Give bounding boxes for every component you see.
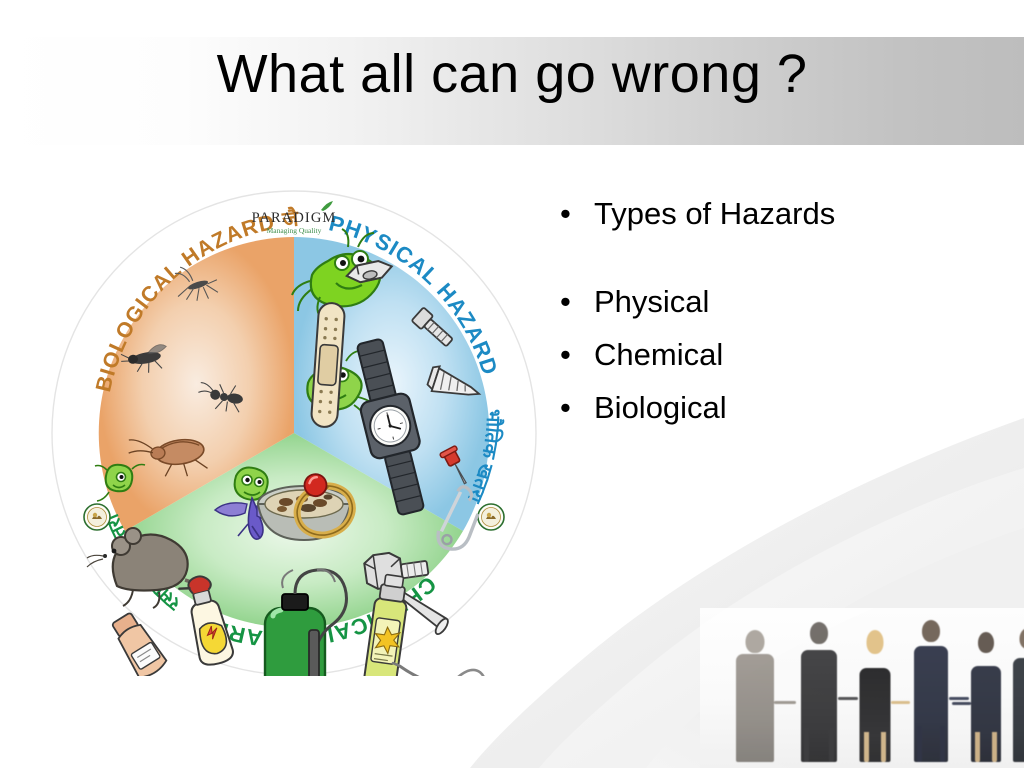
hazard-wheel-image: BIOLOGICAL HAZARD जैविक खतरा PHYSICAL HA… <box>50 190 538 676</box>
list-item: • Physical <box>560 284 990 320</box>
leg <box>829 728 834 762</box>
people-photo-decoration <box>700 608 1024 768</box>
list-item: • Types of Hazards <box>560 196 990 232</box>
bullet-marker: • <box>560 390 594 426</box>
oil-can-icon <box>393 648 493 676</box>
leg <box>940 726 945 762</box>
person-silhouette <box>964 632 1008 762</box>
head <box>1020 628 1024 649</box>
bullet-list: • Types of Hazards • Physical • Chemical… <box>560 196 990 443</box>
person-silhouette <box>906 620 956 762</box>
leg <box>975 732 980 762</box>
paradigm-tagline: Managing Quality <box>267 226 322 235</box>
arm <box>952 702 971 705</box>
list-item: • Biological <box>560 390 990 426</box>
bullet-marker: • <box>560 337 594 373</box>
head <box>978 632 994 653</box>
page-title: What all can go wrong ? <box>0 44 1024 104</box>
bullet-label: Physical <box>594 284 990 320</box>
leg <box>992 732 997 762</box>
list-item: • Chemical <box>560 337 990 373</box>
list-spacer <box>560 232 990 284</box>
leg <box>881 732 886 762</box>
head <box>810 622 828 644</box>
head <box>746 630 765 653</box>
slide: What all can go wrong ? <box>0 0 1024 768</box>
quality-seal-icon <box>84 504 110 530</box>
head <box>867 630 884 654</box>
bullet-label: Biological <box>594 390 990 426</box>
leg <box>864 732 869 762</box>
bullet-label: Types of Hazards <box>594 196 990 232</box>
bullet-marker: • <box>560 284 594 320</box>
bullet-label: Chemical <box>594 337 990 373</box>
body <box>1013 658 1024 762</box>
person-silhouette <box>852 630 898 762</box>
person-silhouette <box>1008 628 1024 762</box>
head <box>922 620 940 642</box>
bullet-marker: • <box>560 196 594 232</box>
person-silhouette <box>793 622 845 762</box>
body <box>736 654 774 762</box>
quality-seal-icon <box>478 504 504 530</box>
leg <box>804 728 809 762</box>
person-silhouette <box>728 630 782 762</box>
paradigm-wordmark: PARADIGM <box>252 210 337 226</box>
leg <box>917 726 922 762</box>
